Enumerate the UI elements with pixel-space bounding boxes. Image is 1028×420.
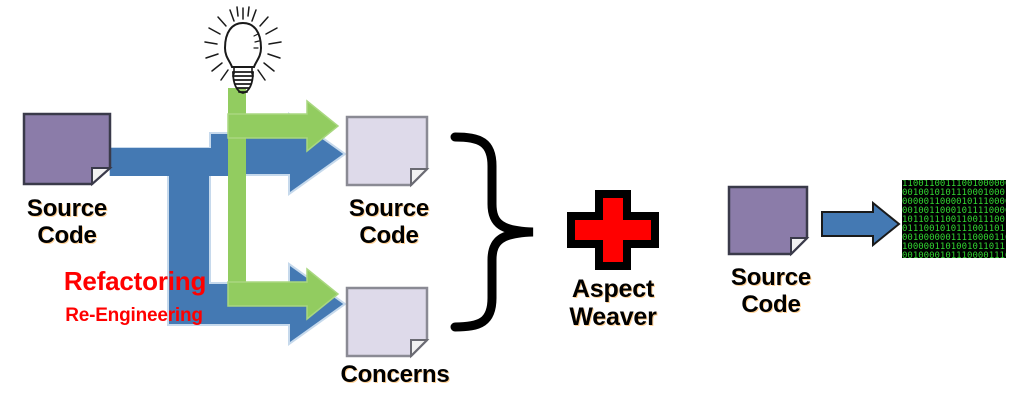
binary-row: 00100001011100001110 [902,252,1006,258]
label-source-code-input: Source Code [8,196,126,250]
compile-arrow-shape [822,203,899,245]
label-source-code-output: Source Code [330,196,448,250]
diagram-canvas: 1100110011100100000000100101011100010001… [0,0,1028,420]
label-aspect-weaver: Aspect Weaver [552,275,674,331]
label-concerns: Concerns [320,362,470,389]
binary-output-block: 1100110011100100000000100101011100010001… [902,180,1006,258]
annotation-refactoring: Refactoring [30,267,240,296]
compile-arrow [0,0,1028,420]
annotation-re-engineering: Re-Engineering [24,305,244,326]
label-source-code-woven: Source Code [712,265,830,319]
